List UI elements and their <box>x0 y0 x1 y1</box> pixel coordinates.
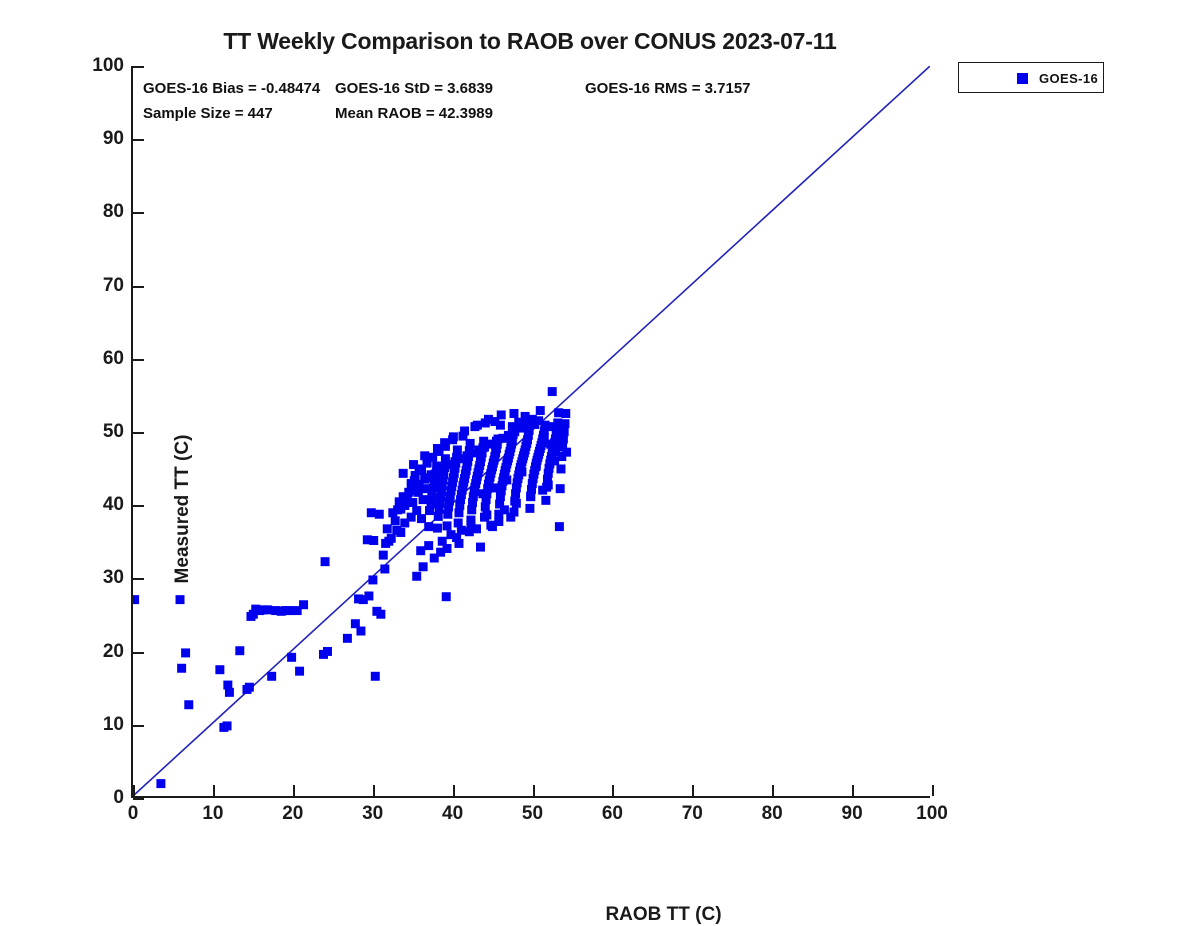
data-point <box>443 544 452 553</box>
y-axis-tick <box>133 212 144 214</box>
data-point <box>541 496 550 505</box>
page-title: TT Weekly Comparison to RAOB over CONUS … <box>0 28 1060 55</box>
data-point <box>371 672 380 681</box>
x-axis-tick-label: 30 <box>362 803 383 825</box>
x-axis-tick <box>453 785 455 796</box>
x-axis-tick-label: 70 <box>682 803 703 825</box>
data-point <box>534 416 543 425</box>
data-point <box>443 521 452 530</box>
data-point <box>383 524 392 533</box>
data-point <box>408 486 417 495</box>
data-point <box>453 445 462 454</box>
x-axis-tick-label: 50 <box>522 803 543 825</box>
data-point <box>486 521 495 530</box>
data-point <box>561 409 570 418</box>
x-axis-tick <box>692 785 694 796</box>
data-point <box>287 653 296 662</box>
data-point <box>442 592 451 601</box>
data-point <box>369 536 378 545</box>
y-axis-tick-label: 10 <box>103 714 124 736</box>
data-point <box>496 421 505 430</box>
data-point <box>427 500 436 509</box>
x-axis-tick <box>373 785 375 796</box>
y-axis-tick <box>133 432 144 434</box>
y-axis-tick <box>133 505 144 507</box>
x-axis-tick <box>852 785 854 796</box>
annotation-std: GOES-16 StD = 3.6839 <box>335 80 493 97</box>
y-axis-tick <box>133 578 144 580</box>
x-axis-tick <box>213 785 215 796</box>
data-point <box>562 448 571 457</box>
data-point <box>412 572 421 581</box>
x-axis-tick <box>772 785 774 796</box>
data-point <box>184 700 193 709</box>
x-axis-tick <box>612 785 614 796</box>
data-point <box>532 462 541 471</box>
data-point <box>484 415 493 424</box>
data-point <box>512 499 521 508</box>
data-point <box>181 648 190 657</box>
chart-container: TT Weekly Comparison to RAOB over CONUS … <box>0 0 1200 900</box>
data-point <box>384 537 393 546</box>
y-axis-tick <box>133 725 144 727</box>
data-point <box>223 721 232 730</box>
data-point <box>368 575 377 584</box>
y-axis-tick <box>133 798 144 800</box>
annotation-sample-size: Sample Size = 447 <box>143 105 273 122</box>
data-point <box>409 460 418 469</box>
x-axis-tick-label: 40 <box>442 803 463 825</box>
data-point <box>556 484 565 493</box>
data-point <box>433 524 442 533</box>
data-point <box>502 475 511 484</box>
x-axis-tick-label: 60 <box>602 803 623 825</box>
data-point <box>391 516 400 525</box>
data-point <box>536 406 545 415</box>
data-point <box>235 646 244 655</box>
data-point <box>343 634 352 643</box>
data-point <box>489 483 498 492</box>
data-point <box>494 517 503 526</box>
y-axis-tick-label: 50 <box>103 421 124 443</box>
y-axis-tick <box>133 139 144 141</box>
data-point <box>466 520 475 529</box>
data-point <box>323 647 332 656</box>
annotation-bias: GOES-16 Bias = -0.48474 <box>143 80 320 97</box>
x-axis-tick <box>533 785 535 796</box>
legend-marker-goes-16 <box>1017 73 1028 84</box>
x-axis-tick-label: 0 <box>128 803 139 825</box>
x-axis-tick-label: 10 <box>202 803 223 825</box>
x-axis-tick <box>133 785 135 796</box>
data-point <box>420 451 429 460</box>
data-point <box>299 600 308 609</box>
data-point <box>554 429 563 438</box>
y-axis-tick-label: 90 <box>103 128 124 150</box>
x-axis-tick <box>932 785 934 796</box>
data-point <box>356 627 365 636</box>
data-point <box>517 467 526 476</box>
data-point <box>245 683 254 692</box>
data-point <box>375 510 384 519</box>
y-axis-tick <box>133 359 144 361</box>
x-axis-tick-label: 20 <box>282 803 303 825</box>
data-point <box>285 606 294 615</box>
x-axis-tick-label: 100 <box>916 803 948 825</box>
annotation-mean-raob: Mean RAOB = 42.3989 <box>335 105 493 122</box>
data-point <box>506 513 515 522</box>
data-point <box>177 664 186 673</box>
y-axis-tick-label: 30 <box>103 567 124 589</box>
data-point <box>449 432 458 441</box>
data-point <box>392 526 401 535</box>
plot-canvas <box>133 66 930 796</box>
y-axis-tick-label: 0 <box>113 787 124 809</box>
plot-area: RAOB TT (C) Measured TT (C) 010203040506… <box>131 66 930 798</box>
data-point <box>473 421 482 430</box>
data-point <box>417 514 426 523</box>
data-point <box>478 489 487 498</box>
data-point <box>482 510 491 519</box>
data-point <box>321 557 330 566</box>
data-point <box>548 387 557 396</box>
data-point <box>424 522 433 531</box>
data-point <box>560 419 569 428</box>
y-axis-tick-label: 20 <box>103 641 124 663</box>
data-point <box>551 447 560 456</box>
data-point <box>376 610 385 619</box>
data-point <box>476 543 485 552</box>
data-point <box>424 541 433 550</box>
data-point <box>556 464 565 473</box>
data-point <box>497 410 506 419</box>
data-point <box>396 505 405 514</box>
data-point <box>525 504 534 513</box>
data-point <box>379 551 388 560</box>
data-point <box>555 522 564 531</box>
legend: GOES-16 <box>958 62 1104 93</box>
data-point <box>460 427 469 436</box>
y-axis-tick-label: 80 <box>103 201 124 223</box>
data-point <box>400 518 409 527</box>
data-point <box>440 438 449 447</box>
data-point <box>544 481 553 490</box>
y-axis-tick-label: 40 <box>103 494 124 516</box>
y-axis-tick-label: 60 <box>103 348 124 370</box>
x-axis-tick-label: 90 <box>842 803 863 825</box>
data-point <box>545 422 554 431</box>
data-point <box>215 665 224 674</box>
data-point <box>367 508 376 517</box>
data-point <box>225 688 234 697</box>
annotation-rms: GOES-16 RMS = 3.7157 <box>585 80 751 97</box>
data-point <box>364 591 373 600</box>
data-point <box>419 495 428 504</box>
data-point <box>419 562 428 571</box>
data-point <box>526 491 535 500</box>
y-axis-tick <box>133 66 144 68</box>
x-axis-tick-label: 80 <box>762 803 783 825</box>
data-point <box>133 595 139 604</box>
data-point <box>380 564 389 573</box>
data-point <box>295 667 304 676</box>
data-point <box>399 469 408 478</box>
y-axis-tick-label: 70 <box>103 275 124 297</box>
data-point <box>411 471 420 480</box>
legend-label-goes-16: GOES-16 <box>1039 71 1098 86</box>
data-point <box>509 409 518 418</box>
y-axis-tick <box>133 652 144 654</box>
data-point <box>454 539 463 548</box>
data-point <box>267 672 276 681</box>
y-axis-tick-label: 100 <box>92 55 124 77</box>
y-axis-tick <box>133 286 144 288</box>
data-point <box>521 412 530 421</box>
x-axis-tick <box>293 785 295 796</box>
data-point <box>403 494 412 503</box>
data-point <box>416 546 425 555</box>
x-axis-title: RAOB TT (C) <box>264 904 1063 926</box>
data-point <box>550 456 559 465</box>
data-point <box>263 605 272 614</box>
y-axis-title: Measured TT (C) <box>172 409 194 609</box>
data-point <box>156 779 165 788</box>
